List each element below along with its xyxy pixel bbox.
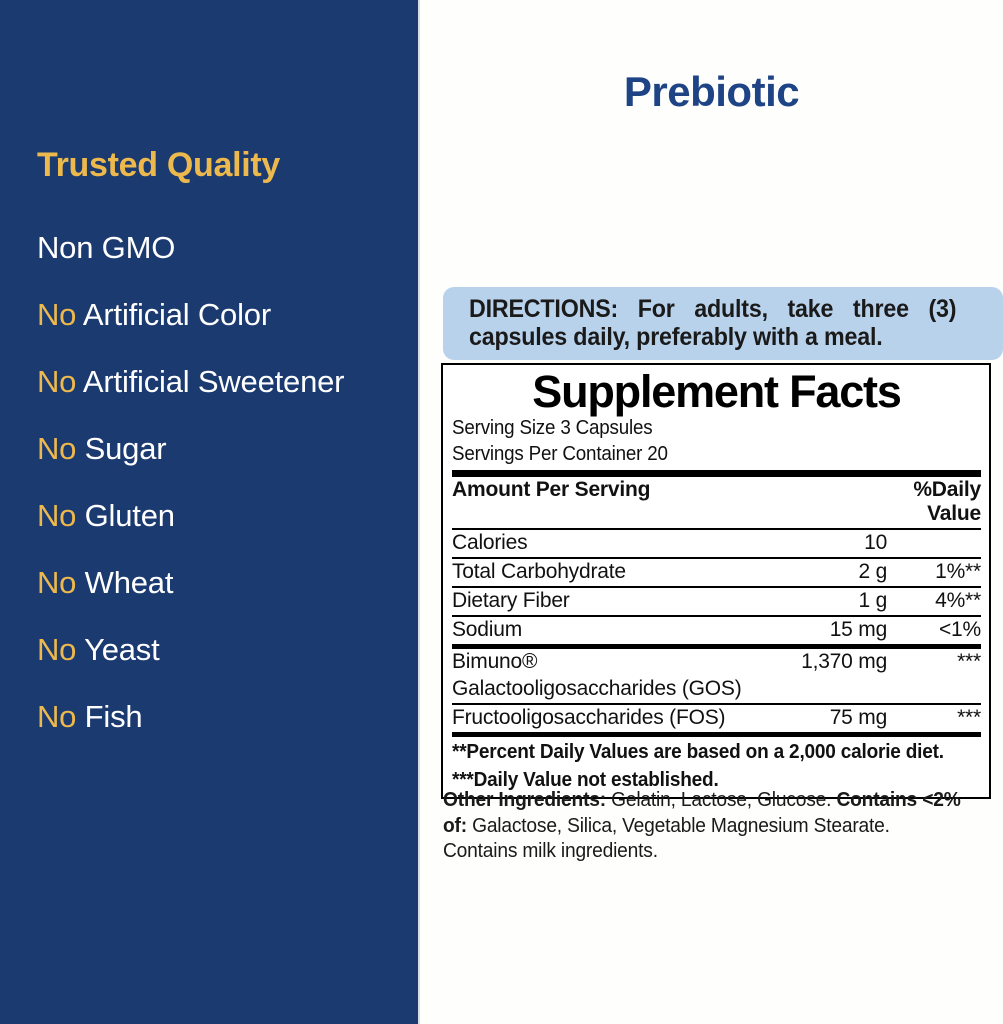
trusted-quality-heading: Trusted Quality (37, 146, 280, 185)
product-title: Prebiotic (420, 68, 1003, 116)
claim-item-no-artificial-sweetener: No Artificial Sweetener (37, 360, 397, 404)
row-name: Fructooligosaccharides (FOS) (452, 704, 759, 735)
claim-prefix: No (37, 632, 76, 667)
row-amount: 1 g (759, 587, 891, 616)
claim-prefix: No (37, 498, 76, 533)
quality-claims-list: Non GMO No Artificial Color No Artificia… (37, 226, 397, 762)
claim-item-no-artificial-color: No Artificial Color (37, 293, 397, 337)
trusted-quality-panel: Trusted Quality Non GMO No Artificial Co… (0, 0, 418, 1024)
row-amount: 2 g (759, 558, 891, 587)
supplement-facts-title: Supplement Facts (452, 369, 981, 414)
contains-list: Galactose, Silica, Vegetable Magnesium S… (467, 815, 890, 837)
allergen-statement: Contains milk ingredients. (443, 839, 981, 865)
other-ingredients-block: Other Ingredients: Gelatin, Lactose, Glu… (443, 788, 981, 865)
serving-size-line: Serving Size 3 Capsules (452, 416, 949, 442)
row-amount: 75 mg (759, 704, 891, 735)
table-row: Fructooligosaccharides (FOS) 75 mg *** (452, 704, 981, 735)
table-row-continuation: Galactooligosaccharides (GOS) (452, 676, 981, 704)
claim-prefix: No (37, 565, 76, 600)
row-amount: 10 (759, 529, 891, 558)
row-daily-value (891, 529, 981, 558)
rule-below-servings (452, 470, 981, 477)
table-header-row: Amount Per Serving %Daily Value (452, 477, 981, 529)
row-name: Bimuno® (452, 647, 759, 677)
row-name: Dietary Fiber (452, 587, 759, 616)
row-amount: 15 mg (759, 616, 891, 647)
claim-text: Artificial Sweetener (76, 364, 344, 399)
supplement-label-page: Trusted Quality Non GMO No Artificial Co… (0, 0, 1003, 1024)
product-info-panel: Prebiotic DIRECTIONS: For adults, take t… (420, 0, 1003, 1024)
table-row: Bimuno® 1,370 mg *** (452, 647, 981, 677)
row-daily-value: 4%** (891, 587, 981, 616)
claim-item-non-gmo: Non GMO (37, 226, 397, 270)
row-daily-value: 1%** (891, 558, 981, 587)
other-ingredients-label: Other Ingredients: (443, 789, 606, 811)
row-amount: 1,370 mg (759, 647, 891, 677)
claim-item-no-fish: No Fish (37, 695, 397, 739)
row-name: Galactooligosaccharides (GOS) (452, 676, 981, 704)
claim-prefix: No (37, 699, 76, 734)
claim-text: Gluten (76, 498, 175, 533)
claim-item-no-wheat: No Wheat (37, 561, 397, 605)
claim-item-no-yeast: No Yeast (37, 628, 397, 672)
row-daily-value: <1% (891, 616, 981, 647)
table-row: Sodium 15 mg <1% (452, 616, 981, 647)
header-daily-value: %Daily Value (891, 477, 981, 529)
claim-prefix: No (37, 364, 76, 399)
claim-text: Artificial Color (76, 297, 271, 332)
claim-prefix: No (37, 431, 76, 466)
table-row: Calories 10 (452, 529, 981, 558)
servings-per-container-line: Servings Per Container 20 (452, 442, 949, 468)
row-name: Sodium (452, 616, 759, 647)
table-row: Total Carbohydrate 2 g 1%** (452, 558, 981, 587)
table-row: Dietary Fiber 1 g 4%** (452, 587, 981, 616)
row-daily-value: *** (891, 704, 981, 735)
supplement-facts-panel: Supplement Facts Serving Size 3 Capsules… (441, 363, 991, 799)
row-name: Calories (452, 529, 759, 558)
other-ingredients-list: Gelatin, Lactose, Glucose. (606, 789, 836, 811)
claim-text: Wheat (76, 565, 173, 600)
nutrition-table: Amount Per Serving %Daily Value Calories… (452, 477, 981, 737)
claim-item-no-sugar: No Sugar (37, 427, 397, 471)
directions-text: DIRECTIONS: For adults, take three (3) c… (469, 295, 956, 351)
claim-text: Yeast (76, 632, 159, 667)
directions-callout: DIRECTIONS: For adults, take three (3) c… (443, 287, 1003, 360)
header-amount-per-serving: Amount Per Serving (452, 477, 759, 529)
claim-item-no-gluten: No Gluten (37, 494, 397, 538)
claim-text: Fish (76, 699, 142, 734)
footnote-percent-daily-value: **Percent Daily Values are based on a 2,… (452, 737, 955, 765)
claim-text: Sugar (76, 431, 166, 466)
claim-text: Non GMO (37, 230, 175, 265)
row-name: Total Carbohydrate (452, 558, 759, 587)
claim-prefix: No (37, 297, 76, 332)
header-spacer (759, 477, 891, 529)
row-daily-value: *** (891, 647, 981, 677)
